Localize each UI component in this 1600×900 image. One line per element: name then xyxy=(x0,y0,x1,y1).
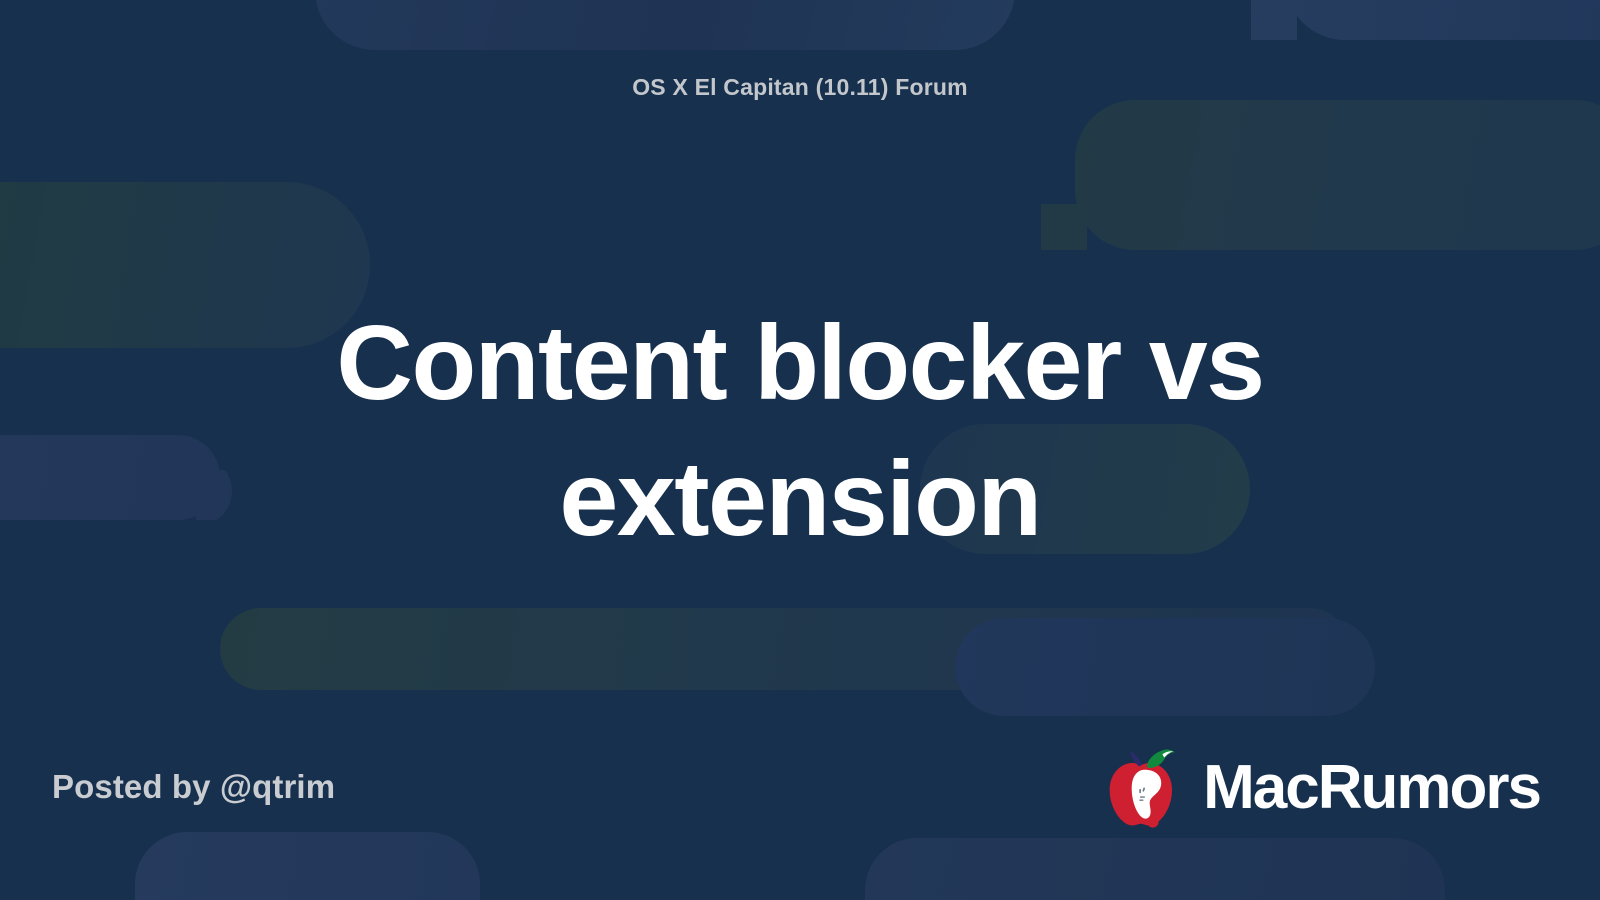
macrumors-wordmark: MacRumors xyxy=(1203,757,1540,819)
bubble-tail-icon xyxy=(1251,0,1297,40)
posted-by-label: Posted by @qtrim xyxy=(52,768,335,806)
bubble-tail-icon xyxy=(1041,204,1087,250)
bubble-lower-right xyxy=(955,618,1375,716)
bubble-bottom-center xyxy=(865,838,1445,900)
forum-label: OS X El Capitan (10.11) Forum xyxy=(0,74,1600,101)
page-title: Content blocker vs extension xyxy=(100,296,1500,567)
bubble-lower-center-teal xyxy=(220,608,1350,690)
forum-share-card: OS X El Capitan (10.11) Forum Content bl… xyxy=(0,0,1600,900)
bubble-top-right xyxy=(1285,0,1600,40)
bubble-bottom-left xyxy=(135,832,480,900)
macrumors-apple-icon xyxy=(1093,736,1197,840)
bubble-top-center xyxy=(315,0,1015,50)
macrumors-logo: MacRumors xyxy=(1093,736,1540,840)
bubble-mid-right-teal xyxy=(1075,100,1600,250)
